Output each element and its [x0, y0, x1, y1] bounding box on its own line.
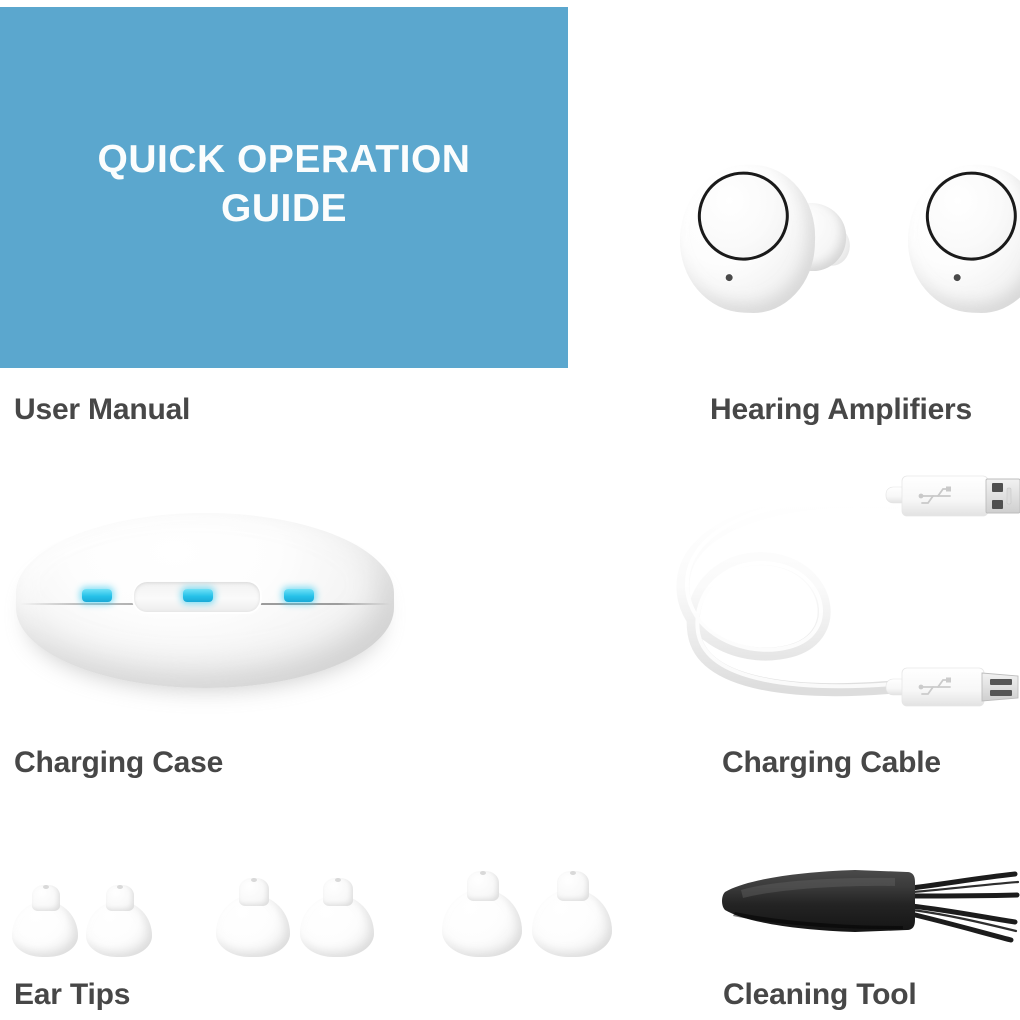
charging-cable-svg — [650, 455, 1020, 725]
ear-tip-large-left — [442, 869, 522, 957]
earbud-left — [677, 162, 832, 317]
ear-tip-large-right — [532, 869, 612, 957]
ear-tip-bore — [570, 871, 576, 875]
ear-tip-bore — [480, 871, 486, 875]
micro-usb-connector — [886, 668, 1018, 706]
label-cleaning-tool: Cleaning Tool — [723, 980, 917, 1010]
label-hearing-amplifiers: Hearing Amplifiers — [710, 395, 972, 425]
ear-tip-bore — [117, 885, 123, 889]
ear-tip-stem — [467, 871, 499, 901]
cleaning-tool-bristles — [911, 874, 1018, 940]
ear-tip-stem — [323, 878, 353, 906]
charging-cable-image — [650, 455, 1020, 725]
ear-tip-stem — [557, 871, 589, 901]
ear-tip-medium-left — [216, 875, 290, 957]
usb-a-connector — [886, 476, 1020, 516]
ear-tips-image — [0, 855, 660, 965]
ear-tip-small-right — [86, 883, 152, 957]
label-charging-cable: Charging Cable — [722, 748, 941, 778]
charging-case-led-3 — [284, 589, 314, 602]
label-charging-case: Charging Case — [14, 748, 223, 778]
label-user-manual: User Manual — [14, 395, 190, 425]
earbud-right — [905, 162, 1020, 317]
charging-case-image — [8, 495, 408, 705]
hearing-amplifiers-image — [660, 150, 1020, 380]
cleaning-tool-image — [715, 862, 1020, 952]
ear-tip-stem — [239, 878, 269, 906]
manual-cover-title: QUICK OPERATION GUIDE — [74, 136, 494, 234]
cleaning-tool-svg — [715, 862, 1020, 952]
charging-case-led-1 — [82, 589, 112, 602]
product-accessories-figure: QUICK OPERATION GUIDE User Manual Hearin… — [0, 0, 1020, 1020]
label-ear-tips: Ear Tips — [14, 980, 130, 1010]
ear-tip-medium-right — [300, 875, 374, 957]
ear-tip-bore — [335, 878, 341, 882]
charging-case-led-2 — [183, 589, 213, 602]
ear-tip-bore — [43, 885, 49, 889]
ear-tip-bore — [251, 878, 257, 882]
ear-tip-small-left — [12, 883, 78, 957]
user-manual-cover: QUICK OPERATION GUIDE — [0, 7, 568, 368]
